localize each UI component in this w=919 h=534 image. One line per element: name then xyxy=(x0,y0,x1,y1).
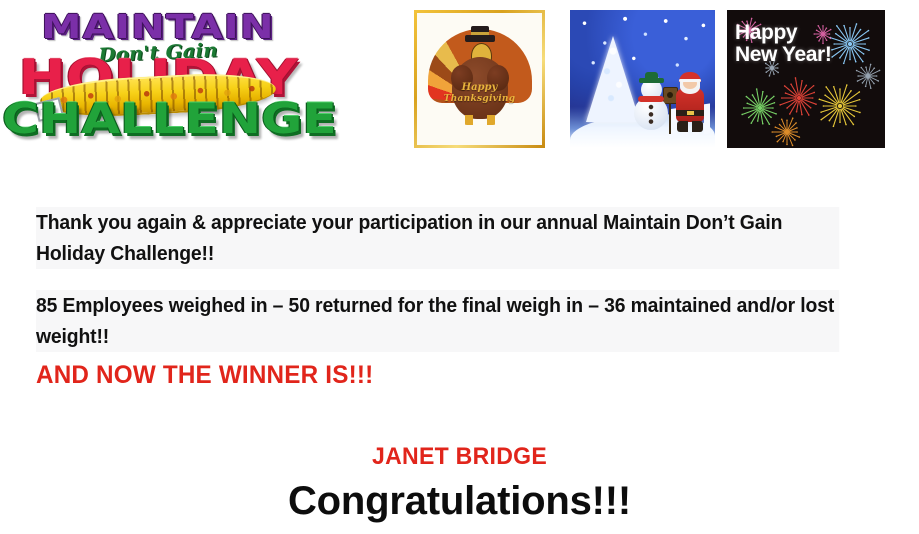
winner-announcement-heading: AND NOW THE WINNER IS!!! xyxy=(36,360,373,390)
santa-hat xyxy=(679,72,701,82)
happy-new-year-fireworks-image: Happy New Year! xyxy=(727,10,885,148)
snowman-icon xyxy=(634,76,668,130)
thanksgiving-turkey-image: Happy Thanksgiving xyxy=(414,10,545,148)
new-year-line-1: Happy xyxy=(735,21,797,44)
congratulations-heading: Congratulations!!! xyxy=(0,477,919,525)
turkey-caption-thanksgiving: Thanksgiving xyxy=(417,95,542,104)
santa-claus-icon xyxy=(674,70,706,132)
maintain-dont-gain-holiday-challenge-logo: MAINTAIN Don't Gain HOLIDAY CHALLENGE xyxy=(28,2,288,152)
snowman-hat xyxy=(639,78,664,83)
turkey-feet-icon xyxy=(463,115,497,125)
christmas-snowman-santa-image xyxy=(570,10,715,148)
pilgrim-hat-icon xyxy=(465,35,495,42)
paragraph-thank-you: Thank you again & appreciate your partic… xyxy=(36,207,839,269)
santa-belt xyxy=(676,110,704,116)
snowman-scarf xyxy=(638,96,664,102)
paragraph-participation-stats: 85 Employees weighed in – 50 returned fo… xyxy=(36,290,839,352)
new-year-line-2: New Year! xyxy=(735,43,831,66)
happy-new-year-text: Happy New Year! xyxy=(735,22,840,66)
logo-word-challenge: CHALLENGE xyxy=(2,98,314,140)
santa-boots xyxy=(677,121,703,132)
christmas-tree-lights-icon xyxy=(588,36,638,120)
snowman-buttons xyxy=(648,104,654,124)
turkey-caption-happy: Happy xyxy=(417,83,542,93)
top-banner: MAINTAIN Don't Gain HOLIDAY CHALLENGE Ha… xyxy=(0,0,919,160)
winner-name: JANET BRIDGE xyxy=(18,443,900,471)
